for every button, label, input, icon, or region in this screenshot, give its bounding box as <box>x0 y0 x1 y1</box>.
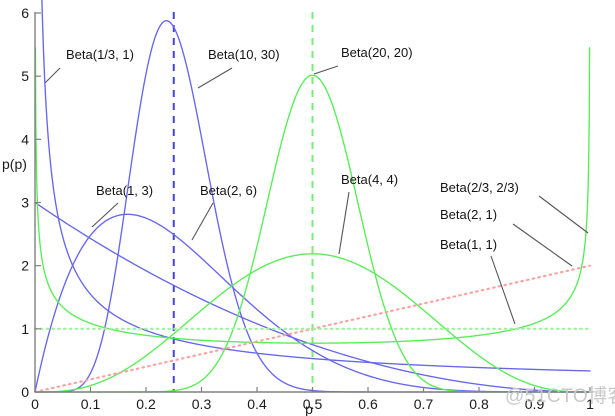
figure-root: 00.10.20.30.40.50.60.70.80.910123456 Bet… <box>0 0 615 416</box>
annotation-beta-2-3-2-3: Beta(2/3, 2/3) <box>440 180 519 195</box>
annotation-beta-1-3: Beta(1, 3) <box>96 183 153 198</box>
beta-distribution-chart: 00.10.20.30.40.50.60.70.80.910123456 Bet… <box>0 0 615 416</box>
y-tick-label: 4 <box>21 131 29 147</box>
annotation-beta-20-20: Beta(20, 20) <box>341 45 413 60</box>
y-tick-label: 0 <box>21 384 29 400</box>
annotation-beta-1-3-1-leader <box>45 68 60 83</box>
y-tick-label: 3 <box>21 195 29 211</box>
y-tick-label: 6 <box>21 5 29 21</box>
annotation-beta-20-20-leader <box>314 66 338 74</box>
tick-label-layer: 00.10.20.30.40.50.60.70.80.910123456 <box>21 5 594 412</box>
annotation-beta-10-30: Beta(10, 30) <box>208 47 280 62</box>
x-tick-label: 0.8 <box>469 396 489 412</box>
reference-line-layer <box>174 12 313 392</box>
annotation-beta-1-3-leader <box>92 203 118 227</box>
axis-layer <box>35 12 593 392</box>
annotation-layer: Beta(1/3, 1)Beta(10, 30)Beta(20, 20)Beta… <box>45 45 588 324</box>
x-tick-label: 0.1 <box>81 396 101 412</box>
y-axis-title: p(p) <box>2 156 27 172</box>
x-tick-label: 0 <box>31 396 39 412</box>
annotation-beta-1-1: Beta(1, 1) <box>440 237 497 252</box>
annotation-beta-10-30-leader <box>198 68 232 88</box>
x-axis-title: p <box>305 401 313 416</box>
x-tick-label: 0.9 <box>525 396 545 412</box>
annotation-beta-2-1: Beta(2, 1) <box>440 207 497 222</box>
y-tick-label: 5 <box>21 68 29 84</box>
annotation-beta-4-4-leader <box>339 192 349 254</box>
annotation-beta-2-6: Beta(2, 6) <box>200 183 257 198</box>
annotation-beta-2-1-leader <box>513 224 572 266</box>
annotation-beta-4-4: Beta(4, 4) <box>341 172 398 187</box>
x-tick-label: 0.7 <box>414 396 434 412</box>
annotation-beta-1-3-1: Beta(1/3, 1) <box>66 47 134 62</box>
x-tick-label: 0.6 <box>358 396 378 412</box>
curve-beta-10-30 <box>35 21 590 392</box>
annotation-beta-2-6-leader <box>192 203 213 240</box>
x-tick-label: 0.3 <box>192 396 212 412</box>
y-tick-label: 1 <box>21 321 29 337</box>
x-tick-label: 0.2 <box>136 396 156 412</box>
x-tick-label: 0.4 <box>247 396 267 412</box>
x-tick-label: 1 <box>586 396 594 412</box>
y-tick-label: 2 <box>21 258 29 274</box>
annotation-beta-2-3-2-3-leader <box>539 196 588 233</box>
annotation-beta-1-1-leader <box>491 256 515 324</box>
